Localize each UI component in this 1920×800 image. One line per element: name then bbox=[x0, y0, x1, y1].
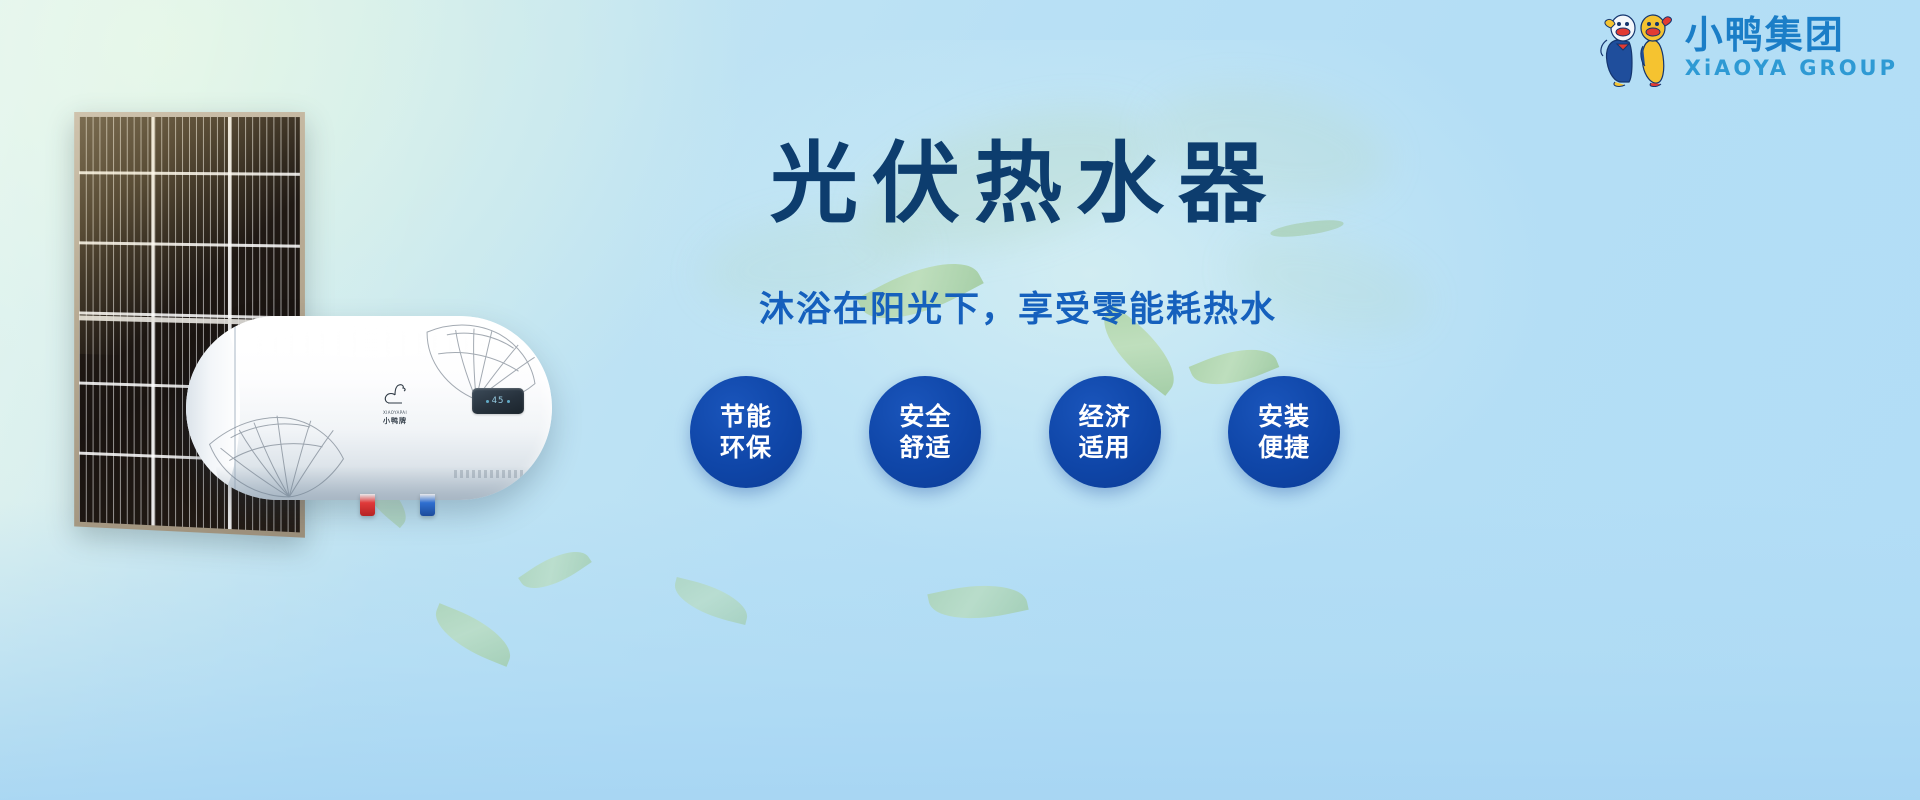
badge-line-1: 安全 bbox=[899, 401, 951, 433]
page-title: 光伏热水器 bbox=[718, 138, 1318, 230]
badge-line-2: 适用 bbox=[1079, 432, 1131, 464]
water-heater-product: XIAOYAPAI 小鸭牌 45 bbox=[186, 316, 552, 500]
feature-badge-economical[interactable]: 经济 适用 bbox=[1049, 376, 1161, 488]
badge-line-1: 安装 bbox=[1258, 401, 1310, 433]
promotional-banner: XIAOYAPAI 小鸭牌 45 光伏热水器 沐浴在阳光下，享受零能耗热水 节能… bbox=[0, 0, 1920, 800]
badge-line-1: 经济 bbox=[1079, 401, 1131, 433]
badge-line-2: 舒适 bbox=[899, 432, 951, 464]
badge-line-1: 节能 bbox=[720, 401, 772, 433]
duck-mascots-icon bbox=[1599, 6, 1677, 88]
feature-badge-safe-comfort[interactable]: 安全 舒适 bbox=[869, 376, 981, 488]
display-temperature: 45 bbox=[492, 396, 505, 406]
badge-line-2: 便捷 bbox=[1258, 432, 1310, 464]
duck-icon bbox=[364, 382, 426, 409]
control-display-panel[interactable]: 45 bbox=[472, 388, 524, 414]
logo-name-en: XiAOYA GROUP bbox=[1685, 58, 1898, 79]
hot-water-pipe bbox=[360, 494, 375, 516]
feature-badge-easy-install[interactable]: 安装 便捷 bbox=[1228, 376, 1340, 488]
feature-badge-energy-saving[interactable]: 节能 环保 bbox=[690, 376, 802, 488]
product-brand-cn: 小鸭牌 bbox=[364, 416, 426, 426]
cold-water-pipe bbox=[420, 494, 435, 516]
background-bottom-fade bbox=[0, 500, 1920, 800]
company-logo[interactable]: 小鸭集团 XiAOYA GROUP bbox=[1599, 6, 1898, 88]
product-brand-mark: XIAOYAPAI 小鸭牌 bbox=[364, 382, 426, 426]
product-brand-en: XIAOYAPAI bbox=[364, 410, 426, 415]
logo-name-cn: 小鸭集团 bbox=[1685, 16, 1898, 54]
display-indicator-dot bbox=[486, 400, 489, 403]
logo-text-block: 小鸭集团 XiAOYA GROUP bbox=[1685, 16, 1898, 79]
display-indicator-dot-2 bbox=[507, 400, 510, 403]
water-heater-body: XIAOYAPAI 小鸭牌 45 bbox=[186, 316, 552, 500]
page-subtitle: 沐浴在阳光下，享受零能耗热水 bbox=[708, 281, 1328, 332]
feature-badge-list: 节能 环保 安全 舒适 经济 适用 安装 便捷 bbox=[690, 376, 1340, 488]
badge-line-2: 环保 bbox=[720, 432, 772, 464]
